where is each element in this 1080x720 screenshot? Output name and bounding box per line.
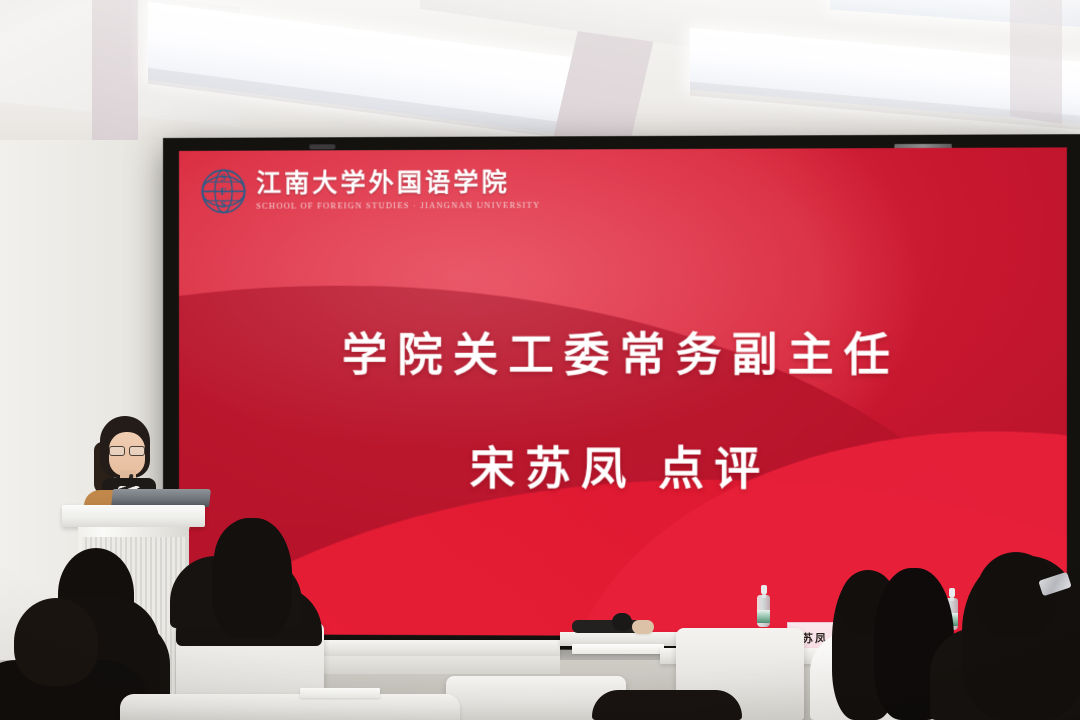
lecture-hall-photo: S F S 江南大学外国语学院 SCHOOL OF FOREIGN STUDIE… [0,0,1080,720]
school-name-en: SCHOOL OF FOREIGN STUDIES · JIANGNAN UNI… [256,201,540,210]
desk-equipment-3 [612,613,632,631]
presentation-slide: S F S 江南大学外国语学院 SCHOOL OF FOREIGN STUDIE… [179,147,1067,637]
school-logo-text: 江南大学外国语学院 SCHOOL OF FOREIGN STUDIES · JI… [256,171,540,211]
ceiling [0,0,1080,140]
svg-text:S: S [221,201,226,211]
audience-shoulders-7 [592,690,742,720]
water-bottle-1[interactable] [757,585,770,627]
audience-head-2 [14,598,98,686]
svg-text:F: F [221,187,227,197]
led-display[interactable]: S F S 江南大学外国语学院 SCHOOL OF FOREIGN STUDIE… [163,134,1080,652]
bezel-sensor [309,144,335,149]
school-name-cn: 江南大学外国语学院 [256,171,540,197]
sfs-globe-emblem-icon: S F S [201,169,246,214]
ceiling-beam-left [92,0,138,140]
lectern-top [62,505,205,527]
slide-title-line-2: 宋苏凤 点评 [179,432,1067,499]
slide-headline: 学院关工委常务副主任 宋苏凤 点评 [179,318,1067,499]
desk-papers-2 [300,688,380,698]
ceiling-beam-right [1010,0,1062,124]
slide-title-line-1: 学院关工委常务副主任 [179,318,1067,384]
svg-text:S: S [221,174,226,184]
desk-papers-1 [572,644,664,654]
desk-row-front [120,694,460,720]
desk-object-beige [632,620,654,634]
school-logo: S F S 江南大学外国语学院 SCHOOL OF FOREIGN STUDIE… [201,168,540,214]
presenter-glasses-icon [109,446,145,454]
audience-hair-long-4 [212,518,292,638]
